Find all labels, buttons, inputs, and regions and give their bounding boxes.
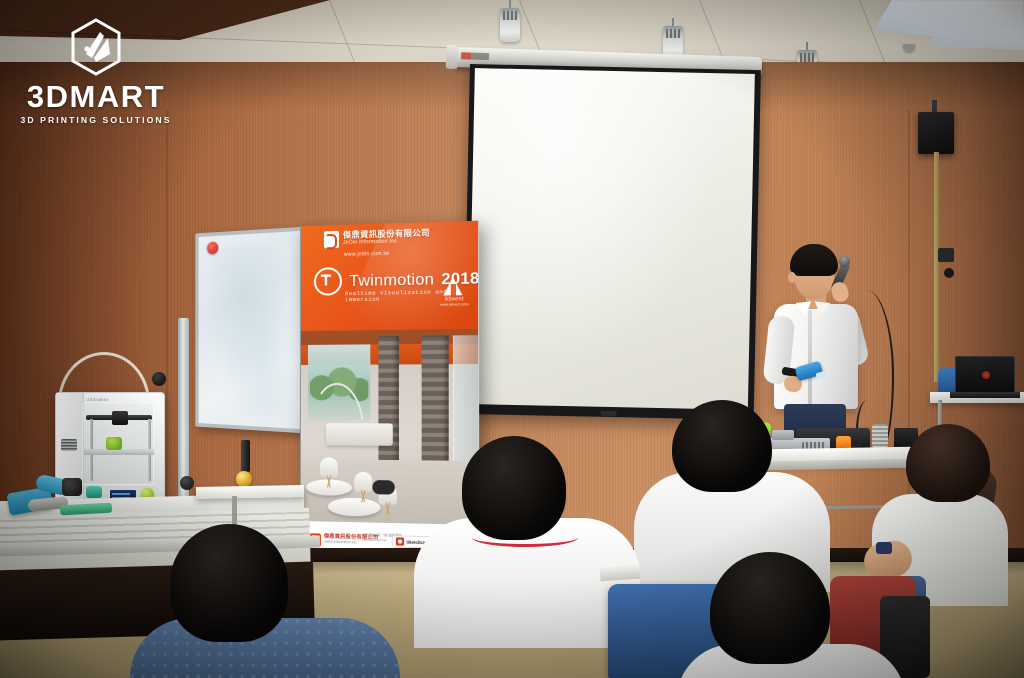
watermark-tagline: 3D PRINTING SOLUTIONS: [16, 115, 176, 125]
watermark-brand: 3DMART: [16, 81, 176, 113]
attendee-white-polo: [420, 436, 630, 636]
attendee-hair: [170, 524, 288, 642]
attendee-blue-shirt: [140, 524, 370, 678]
attendee-laptop[interactable]: [600, 565, 641, 582]
screen-pull-tab: [600, 411, 616, 416]
jedin-company-en: JeDin Information Inc.: [343, 237, 430, 246]
twinmotion-title-row: Twinmotion 2018: [314, 264, 479, 296]
printer-print-head: [112, 411, 128, 425]
jedin-brand: 傑鼎資訊股份有限公司 JeDin Information Inc.: [324, 228, 430, 248]
printer-brand-label: Ultimaker: [86, 397, 109, 402]
attendee-foreground: [690, 552, 880, 678]
screen-housing-cap: [446, 45, 459, 69]
printed-object-green: [106, 437, 122, 450]
whiteboard-smudges: [209, 243, 301, 417]
laptop-keyboard[interactable]: [950, 392, 1020, 398]
abvent-url: www.abvent.com: [440, 302, 468, 307]
printed-object-dark: [62, 478, 82, 496]
laptop-logo-icon: [982, 371, 990, 379]
wall-conduit: [934, 152, 939, 382]
laptop[interactable]: [955, 356, 1015, 396]
attendee-hair: [672, 400, 772, 492]
jedin-logo-icon: [324, 231, 339, 249]
whiteboard-adjust-knob[interactable]: [180, 476, 194, 490]
wall-jack: [938, 248, 954, 262]
3dmart-hexagon-logo-icon: [70, 18, 122, 76]
projection-screen-surface: [468, 68, 755, 410]
poster-header: 傑鼎資訊股份有限公司 JeDin Information Inc. www.je…: [300, 221, 479, 331]
twinmotion-logo-icon: [314, 267, 342, 296]
printed-egg-gold: [236, 471, 252, 487]
side-table: [196, 485, 304, 499]
pendant-light-icon: [500, 8, 520, 42]
jedin-company-cn: 傑鼎資訊股份有限公司: [343, 228, 430, 240]
wall-speaker-icon: [918, 112, 954, 154]
screen-glare: [468, 68, 755, 410]
printer-vent-icon: [61, 439, 77, 451]
printed-object-teal: [86, 486, 102, 498]
attendee-hair: [710, 552, 830, 664]
screen-brand-label: [461, 52, 489, 60]
whiteboard-surface: [195, 226, 316, 434]
wall-jack-round: [944, 268, 954, 278]
sketchup-logo-icon: [396, 537, 404, 545]
attendee-hair: [462, 436, 566, 540]
abvent-name: Abvent: [440, 296, 468, 303]
twinmotion-tagline: Realtime visualization and 3D immersion: [345, 289, 479, 304]
ceiling-light-panel-2: [928, 28, 1024, 54]
filament-spool-holder: [152, 372, 166, 386]
photo-scene: 傑鼎資訊股份有限公司 JeDin Information Inc. www.je…: [0, 0, 1024, 678]
twinmotion-year: 2018: [441, 270, 479, 288]
presenter-hair: [790, 244, 838, 276]
ceiling-sensor-icon: [903, 44, 915, 52]
abvent-logo-icon: [444, 277, 465, 296]
black-stand-post: [241, 440, 250, 472]
projection-screen: [463, 64, 761, 420]
presenter-ear: [788, 272, 796, 283]
twinmotion-name: Twinmotion: [349, 271, 434, 290]
attendee-hair: [906, 424, 990, 502]
wall-seam: [166, 110, 168, 550]
abvent-brand: Abvent www.abvent.com: [440, 277, 468, 307]
presenter-shirt-placket: [808, 310, 812, 406]
watermark: 3DMART 3D PRINTING SOLUTIONS: [16, 18, 176, 125]
jedin-url: www.jedin.com.tw: [344, 251, 389, 258]
